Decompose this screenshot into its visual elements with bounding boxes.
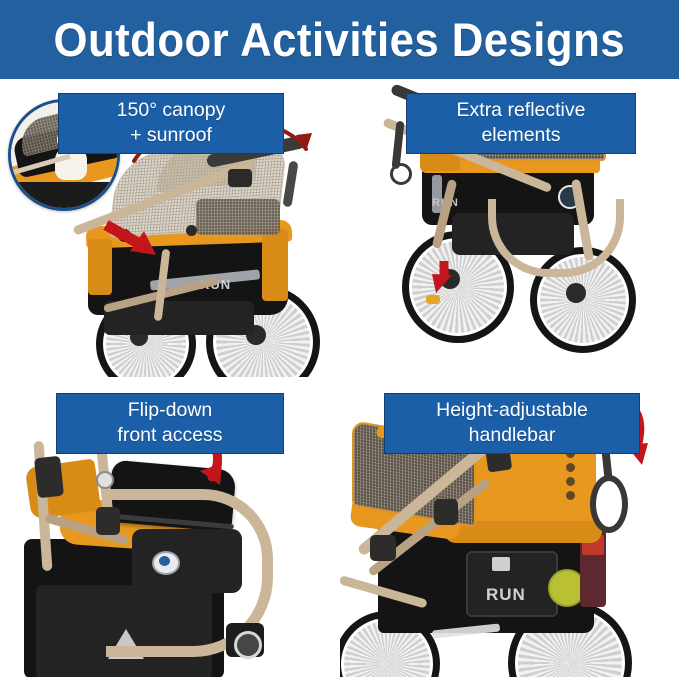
caption-line-1: Height-adjustable: [395, 398, 629, 423]
panel-reflective-elements: RUN: [340, 79, 679, 377]
caption-line-2: + sunroof: [69, 123, 273, 148]
phone-pocket-icon: [492, 557, 510, 571]
caption-line-1: 150° canopy: [69, 98, 273, 123]
caption-height-adjustable-handlebar: Height-adjustable handlebar: [384, 393, 640, 454]
panel-height-adjustable-handlebar: RUN: [340, 379, 679, 677]
pivot-knob: [96, 471, 114, 489]
leash-loop: [590, 475, 628, 533]
frame-joint-block: [434, 499, 458, 525]
red-arrow-wheel-reflector-icon: [428, 259, 458, 299]
hinge-knob: [186, 225, 197, 236]
header-banner: Outdoor Activities Designs: [0, 0, 679, 79]
caption-line-1: Flip-down: [67, 398, 273, 423]
frame-joint-block: [370, 535, 396, 561]
red-arrow-down-icon: [104, 219, 166, 265]
cargo-pocket: [466, 551, 558, 617]
wheel-hub-icon: [566, 283, 586, 303]
inset-lower-body: [11, 182, 120, 210]
caption-line-1: Extra reflective: [417, 98, 625, 123]
wheel-hub-icon: [234, 631, 262, 659]
strap-ring: [390, 163, 412, 185]
vent-button: [566, 491, 575, 500]
caption-line-2: elements: [417, 123, 625, 148]
cabin-orange-side-rear: [262, 229, 288, 301]
panel-flip-down-front-access: Flip-down front access: [0, 379, 339, 677]
vent-button: [566, 463, 575, 472]
vent-button: [566, 477, 575, 486]
cabin-mesh-window: [196, 199, 280, 235]
brand-logo-run: RUN: [486, 585, 526, 605]
caption-canopy-sunroof: 150° canopy + sunroof: [58, 93, 284, 154]
panel-canopy-sunroof: RUN: [0, 79, 339, 377]
caption-reflective-elements: Extra reflective elements: [406, 93, 636, 154]
caption-line-2: handlebar: [395, 423, 629, 448]
caption-line-2: front access: [67, 423, 273, 448]
feature-grid: RUN: [0, 79, 679, 679]
hinge-block: [34, 456, 64, 498]
infographic-root: Outdoor Activities Designs RUN: [0, 0, 679, 679]
caption-flip-down-front-access: Flip-down front access: [56, 393, 284, 454]
hinge-clamp: [96, 507, 120, 535]
page-title: Outdoor Activities Designs: [54, 16, 626, 63]
